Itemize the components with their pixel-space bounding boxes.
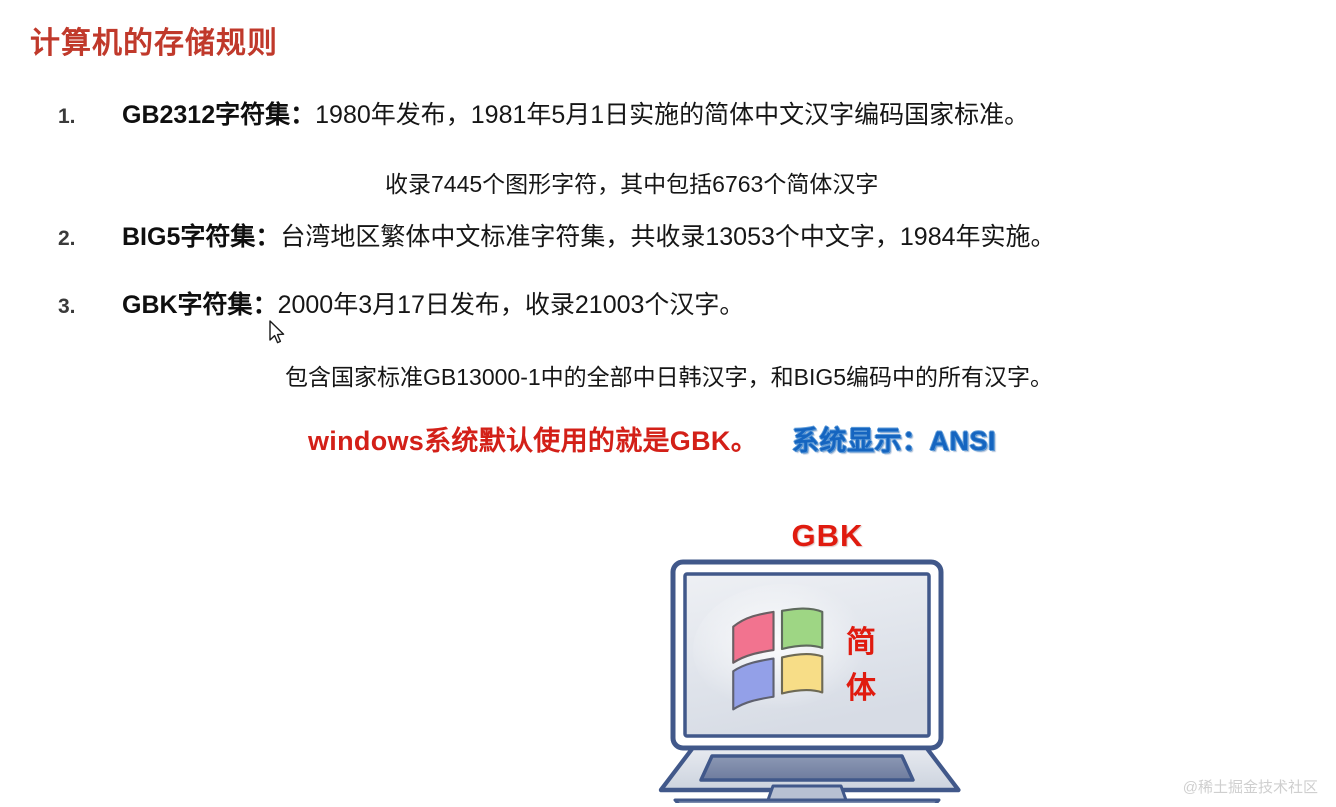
laptop-label-gbk: GBK (655, 518, 1000, 554)
laptop-graphic: 简 体 (655, 558, 1000, 803)
list-item: 3. GBK字符集：2000年3月17日发布，收录21003个汉字。 (58, 290, 1316, 321)
list-item-body: 1980年发布，1981年5月1日实施的简体中文汉字编码国家标准。 (315, 101, 1029, 129)
list-item-lead: GBK字符集 (122, 291, 253, 319)
list-item-separator: ： (253, 291, 278, 319)
highlight-red-text: windows系统默认使用的就是GBK。 (308, 419, 758, 458)
list-item-separator: ： (255, 223, 280, 251)
list-item-body: 台湾地区繁体中文标准字符集，共收录13053个中文字，1984年实施。 (280, 223, 1055, 251)
list-item-text: GBK字符集：2000年3月17日发布，收录21003个汉字。 (122, 290, 744, 321)
list-item-number: 1. (58, 105, 122, 129)
screen-text-line2: 体 (846, 671, 877, 706)
laptop-illustration: GBK (655, 518, 1000, 803)
laptop-base (661, 748, 959, 803)
list-item-separator: ： (290, 101, 315, 129)
watermark: @稀土掘金技术社区 (1183, 776, 1318, 797)
list-item: 1. GB2312字符集：1980年发布，1981年5月1日实施的简体中文汉字编… (58, 100, 1316, 131)
highlight-blue-text: 系统显示：ANSI (792, 419, 996, 458)
list-item-text: GB2312字符集：1980年发布，1981年5月1日实施的简体中文汉字编码国家… (122, 100, 1029, 131)
list-item-text: BIG5字符集：台湾地区繁体中文标准字符集，共收录13053个中文字，1984年… (122, 222, 1056, 253)
screen-text-line1: 简 (846, 625, 876, 660)
highlight-line: windows系统默认使用的就是GBK。 系统显示：ANSI (308, 419, 996, 458)
mouse-pointer-icon (268, 320, 286, 346)
list-item-body: 2000年3月17日发布，收录21003个汉字。 (278, 291, 745, 319)
list-item-lead: BIG5字符集 (122, 223, 255, 251)
list-item: 2. BIG5字符集：台湾地区繁体中文标准字符集，共收录13053个中文字，19… (58, 222, 1316, 253)
list-item-lead: GB2312字符集 (122, 101, 290, 129)
list-item-number: 3. (58, 295, 122, 319)
subnote-gb2312: 收录7445个图形字符，其中包括6763个简体汉字 (385, 165, 878, 199)
page-title: 计算机的存储规则 (30, 18, 278, 62)
list-item-number: 2. (58, 227, 122, 251)
subnote-gbk: 包含国家标准GB13000-1中的全部中日韩汉字，和BIG5编码中的所有汉字。 (285, 358, 1053, 392)
